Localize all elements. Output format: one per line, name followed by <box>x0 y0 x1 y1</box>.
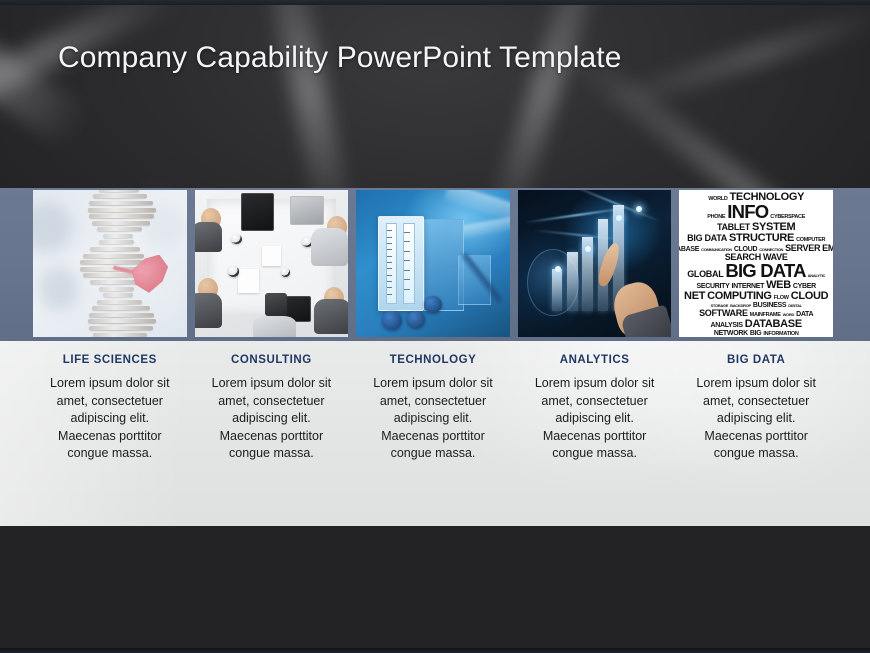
helix-rung <box>97 227 142 231</box>
column-body: Lorem ipsum dolor sit amet, consectetuer… <box>685 375 827 463</box>
word-cloud-term: DIGITAL <box>788 304 802 308</box>
image-strip: SERVERWORLDTECHNOLOGYPHONEINFOCYBERSPACE… <box>33 190 833 337</box>
column-analytics[interactable]: ANALYTICS Lorem ipsum dolor sit amet, co… <box>518 354 672 463</box>
word-cloud-term: SOFTWARE <box>699 309 748 318</box>
word-cloud-term: BUSINESS <box>753 302 786 309</box>
word-cloud-term: WORLD <box>708 197 727 203</box>
helix-rung <box>80 260 147 264</box>
word-cloud-term: CONNECTION <box>759 248 783 252</box>
column-title: BIG DATA <box>685 354 827 366</box>
word-cloud-term: DATABASE <box>745 319 802 330</box>
word-cloud-row: PHONEINFOCYBERSPACE <box>681 203 831 222</box>
word-cloud-term: SERVER <box>785 244 820 253</box>
thumbnail-technology[interactable] <box>356 190 510 337</box>
flow-gauge <box>378 216 424 310</box>
word-cloud-term: FLOW <box>774 296 789 302</box>
helix-rung <box>103 234 133 238</box>
helix-rung <box>83 254 144 258</box>
helix-rung <box>103 293 133 297</box>
word-cloud-term: COMPUTING <box>707 291 772 302</box>
helix-rung <box>93 333 147 337</box>
helix-rung <box>99 287 134 291</box>
word-cloud-term: GLOBAL <box>687 270 723 279</box>
capability-columns: LIFE SCIENCES Lorem ipsum dolor sit amet… <box>33 354 833 463</box>
slide-top-edge <box>0 0 870 5</box>
word-cloud-term: INTERNET <box>731 283 764 290</box>
column-body: Lorem ipsum dolor sit amet, consectetuer… <box>201 375 343 463</box>
word-cloud-term: NET <box>684 291 705 302</box>
word-cloud-row: GLOBALBIG DATAANALYTIC <box>681 262 831 281</box>
word-cloud-term: TABLET <box>717 223 750 232</box>
word-cloud-term: CLOUD <box>791 291 829 302</box>
word-cloud-term: ANALYTIC <box>808 274 825 278</box>
word-cloud-term: PHONE <box>707 215 725 221</box>
helix-rung <box>97 300 142 304</box>
helix-rung <box>92 306 150 310</box>
word-cloud-term: EMAIL <box>822 244 833 253</box>
column-big-data[interactable]: BIG DATA Lorem ipsum dolor sit amet, con… <box>679 354 833 463</box>
column-life-sciences[interactable]: LIFE SCIENCES Lorem ipsum dolor sit amet… <box>33 354 187 463</box>
overhead-meeting-icon <box>195 190 349 337</box>
content-panel: LIFE SCIENCES Lorem ipsum dolor sit amet… <box>0 341 870 526</box>
column-body: Lorem ipsum dolor sit amet, consectetuer… <box>39 375 181 463</box>
thumbnail-big-data[interactable]: SERVERWORLDTECHNOLOGYPHONEINFOCYBERSPACE… <box>679 190 833 337</box>
helix-rung <box>93 194 147 198</box>
column-technology[interactable]: TECHNOLOGY Lorem ipsum dolor sit amet, c… <box>356 354 510 463</box>
column-consulting[interactable]: CONSULTING Lorem ipsum dolor sit amet, c… <box>195 354 349 463</box>
page-title: Company Capability PowerPoint Template <box>58 41 622 75</box>
industrial-equipment-icon <box>356 190 510 337</box>
word-cloud-term: BIG DATA <box>725 262 805 281</box>
word-cloud-term: SECURITY <box>696 283 729 290</box>
column-title: CONSULTING <box>201 354 343 366</box>
helix-rung <box>99 240 134 244</box>
word-cloud-row: BIG DATASTRUCTURECOMPUTER <box>681 233 831 244</box>
helix-rung <box>90 280 140 284</box>
word-cloud-term: CYBERSPACE <box>770 215 805 221</box>
thumbnail-consulting[interactable] <box>195 190 349 337</box>
word-cloud-term: DATABASE <box>679 246 699 253</box>
column-title: TECHNOLOGY <box>362 354 504 366</box>
word-cloud-row: ANALYSISDATABASE <box>681 319 831 330</box>
word-cloud-term: WORD <box>783 313 794 317</box>
big-data-word-cloud-icon: SERVERWORLDTECHNOLOGYPHONEINFOCYBERSPACE… <box>679 190 833 337</box>
dna-double-helix-icon <box>33 190 187 337</box>
word-cloud-term: ANALYSIS <box>710 322 742 329</box>
column-title: ANALYTICS <box>524 354 666 366</box>
thumbnail-life-sciences[interactable] <box>33 190 187 337</box>
word-cloud-term: INFO <box>727 203 768 222</box>
column-body: Lorem ipsum dolor sit amet, consectetuer… <box>362 375 504 463</box>
word-cloud-term: STRUCTURE <box>729 233 794 244</box>
helix-rung <box>89 313 155 317</box>
slide-bottom-edge <box>0 648 870 653</box>
thumbnail-analytics[interactable] <box>518 190 672 337</box>
helix-rung <box>89 326 153 330</box>
column-body: Lorem ipsum dolor sit amet, consectetuer… <box>524 375 666 463</box>
word-cloud-term: COMMUNICATION <box>701 248 732 252</box>
helix-rung <box>88 319 156 323</box>
helix-rung <box>89 214 155 218</box>
helix-rung <box>88 208 156 212</box>
word-cloud-row: TABLETSYSTEM <box>681 222 831 233</box>
helix-rung <box>99 190 139 192</box>
helix-rung <box>92 221 150 225</box>
column-title: LIFE SCIENCES <box>39 354 181 366</box>
analytics-chart-icon <box>518 190 672 337</box>
helix-rung <box>90 247 140 251</box>
word-cloud-row: NETCOMPUTINGFLOWCLOUD <box>681 291 831 302</box>
word-cloud-term: BIG DATA <box>687 234 727 243</box>
slide: Company Capability PowerPoint Template <box>0 0 870 653</box>
word-cloud-term: DATA <box>796 311 813 318</box>
word-cloud-term: SYSTEM <box>752 222 795 233</box>
word-cloud-term: CYBER <box>793 283 816 290</box>
helix-rung <box>89 201 153 205</box>
pointing-hand <box>598 240 669 337</box>
